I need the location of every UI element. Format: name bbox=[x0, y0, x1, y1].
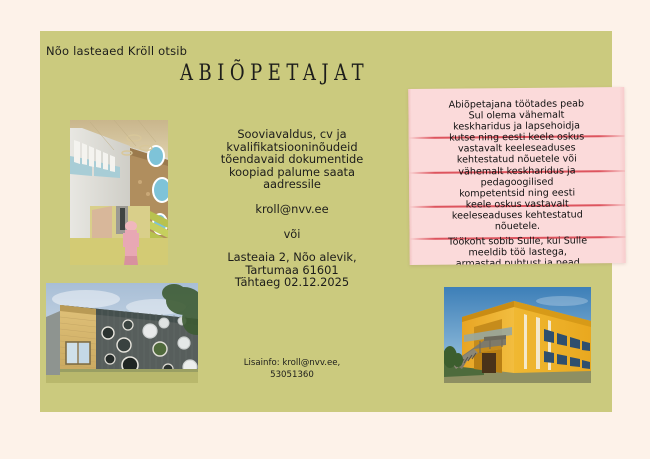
poster-canvas: Nõo lasteaed Kröll otsib ABIÕPETAJAT bbox=[0, 0, 650, 459]
application-instructions: Sooviavaldus, cv ja kvalifikatsiooninõud… bbox=[196, 128, 388, 289]
instruction-line: Sooviavaldus, cv ja bbox=[196, 128, 388, 141]
deadline-text: Tähtaeg 02.12.2025 bbox=[196, 276, 388, 289]
contact-email[interactable]: kroll@nvv.ee bbox=[196, 202, 388, 216]
instruction-line: aadressile bbox=[196, 178, 388, 191]
photo-yellow-building bbox=[444, 287, 591, 383]
instruction-line: tõendavaid dokumentide bbox=[196, 153, 388, 166]
yellow-building-illustration bbox=[444, 287, 591, 383]
photo-building-facade bbox=[46, 283, 198, 383]
footer-phone[interactable]: 53051360 bbox=[196, 370, 388, 382]
page-title: ABIÕPETAJAT bbox=[180, 60, 369, 86]
footer-email[interactable]: Lisainfo: kroll@nvv.ee, bbox=[196, 358, 388, 370]
photo-kindergarten-corridor bbox=[70, 120, 168, 265]
spacer bbox=[196, 191, 388, 202]
address-line: Lasteaia 2, Nõo alevik, bbox=[196, 251, 388, 264]
footer-contact-block: Lisainfo: kroll@nvv.ee, 53051360 bbox=[196, 358, 388, 381]
headline-intro: Nõo lasteaed Kröll otsib bbox=[46, 44, 187, 58]
note-text-block: Abiõpetajana töötades peab Sul olema väh… bbox=[412, 98, 622, 265]
facade-illustration bbox=[46, 283, 198, 383]
or-separator: või bbox=[196, 227, 388, 241]
requirements-note: Abiõpetajana töötades peab Sul olema väh… bbox=[408, 87, 626, 265]
spacer bbox=[196, 216, 388, 227]
corridor-illustration bbox=[70, 120, 168, 265]
